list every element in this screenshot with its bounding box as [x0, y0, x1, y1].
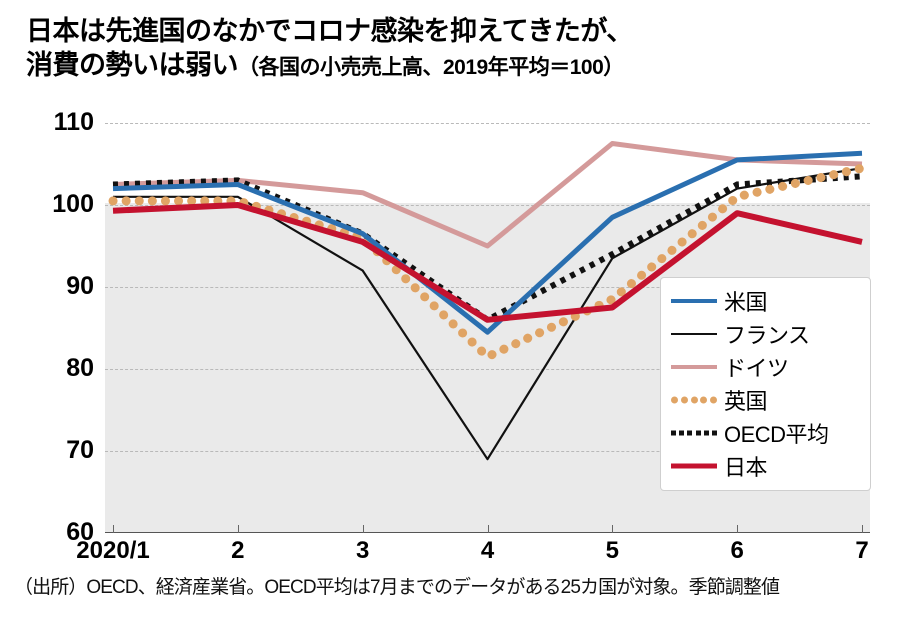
x-axis-tick-label: 3 — [356, 537, 369, 565]
x-axis-tick-label: 4 — [481, 537, 494, 565]
y-axis-tick-label: 100 — [4, 192, 94, 217]
legend-swatch-oecd-icon — [671, 426, 717, 440]
y-axis-tick-label: 110 — [4, 110, 94, 135]
legend: 米国フランスドイツ英国OECD平均日本 — [660, 277, 871, 491]
legend-item-japan[interactable]: 日本 — [671, 449, 860, 482]
legend-swatch-us-icon — [671, 294, 717, 308]
legend-item-oecd[interactable]: OECD平均 — [671, 416, 860, 449]
x-axis-tick — [612, 525, 613, 533]
legend-item-germany[interactable]: ドイツ — [671, 350, 860, 383]
legend-label: OECD平均 — [724, 417, 829, 449]
x-axis-labels: 2020/1234567 — [105, 537, 870, 573]
title-line-1: 日本は先進国のなかでコロナ感染を抑えてきたが、 — [26, 14, 880, 48]
legend-item-us[interactable]: 米国 — [671, 284, 860, 317]
legend-label: 英国 — [724, 384, 767, 416]
x-axis-tick-label: 6 — [730, 537, 743, 565]
x-axis-tick-label: 7 — [855, 537, 868, 565]
legend-swatch-france-icon — [671, 327, 717, 341]
title-line-2-main: 消費の勢いは弱い — [26, 50, 238, 80]
legend-swatch-uk-icon — [671, 393, 717, 407]
x-axis-tick — [862, 525, 863, 533]
legend-label: ドイツ — [724, 351, 789, 383]
x-axis-tick-label: 5 — [606, 537, 619, 565]
legend-label: フランス — [724, 318, 810, 350]
legend-item-france[interactable]: フランス — [671, 317, 860, 350]
x-axis-tick — [737, 525, 738, 533]
legend-swatch-germany-icon — [671, 360, 717, 374]
x-axis-tick — [113, 525, 114, 533]
x-axis-tick — [238, 525, 239, 533]
x-axis-tick — [363, 525, 364, 533]
page-title: 日本は先進国のなかでコロナ感染を抑えてきたが、 消費の勢いは弱い（各国の小売売上… — [26, 14, 880, 85]
y-axis-tick-label: 80 — [4, 356, 94, 381]
legend-swatch-japan-icon — [671, 459, 717, 473]
y-axis-tick-label: 70 — [4, 438, 94, 463]
y-axis-tick-label: 90 — [4, 274, 94, 299]
x-axis-tick-label: 2020/1 — [76, 537, 149, 565]
x-axis-tick — [488, 525, 489, 533]
legend-label: 米国 — [724, 285, 767, 317]
x-axis-tick-label: 2 — [231, 537, 244, 565]
legend-item-uk[interactable]: 英国 — [671, 383, 860, 416]
y-axis-labels: 11010090807060 — [0, 123, 100, 533]
source-note: （出所）OECD、経済産業省。OECD平均は7月までのデータがある25カ国が対象… — [14, 572, 779, 599]
title-line-2: 消費の勢いは弱い（各国の小売売上高、2019年平均＝100） — [26, 48, 880, 85]
title-line-2-sub: （各国の小売売上高、2019年平均＝100） — [238, 56, 624, 79]
legend-label: 日本 — [724, 450, 767, 482]
